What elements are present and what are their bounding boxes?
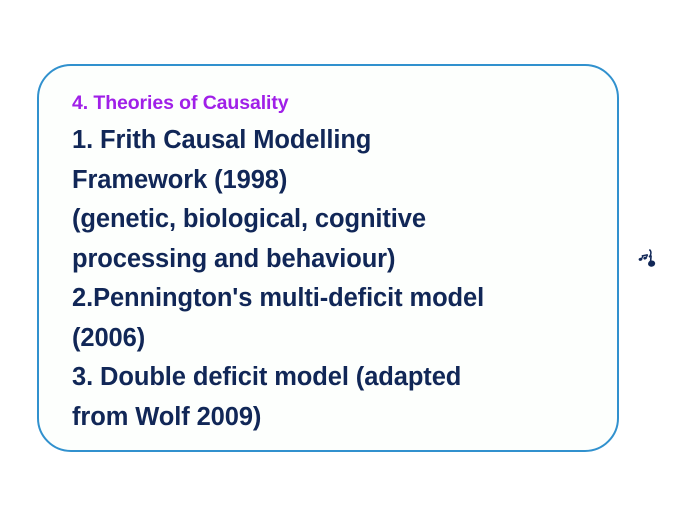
section-heading: 4. Theories of Causality xyxy=(72,85,599,121)
body-line-6: (2006) xyxy=(72,319,599,359)
body-line-2: Framework (1998) xyxy=(72,161,599,201)
body-line-7: 3. Double deficit model (adapted xyxy=(72,358,599,398)
body-line-3: (genetic, biological, cognitive xyxy=(72,200,599,240)
body-line-1: 1. Frith Causal Modelling xyxy=(72,121,599,161)
body-line-8: from Wolf 2009) xyxy=(72,398,599,438)
music-note-scribble-icon xyxy=(636,246,662,274)
body-line-5: 2.Pennington's multi-deficit model xyxy=(72,279,599,319)
content-callout-box: 4. Theories of Causality 1. Frith Causal… xyxy=(37,64,619,452)
slide-canvas: 4. Theories of Causality 1. Frith Causal… xyxy=(0,0,696,520)
body-line-4: processing and behaviour) xyxy=(72,240,599,280)
text-block: 4. Theories of Causality 1. Frith Causal… xyxy=(72,85,599,437)
